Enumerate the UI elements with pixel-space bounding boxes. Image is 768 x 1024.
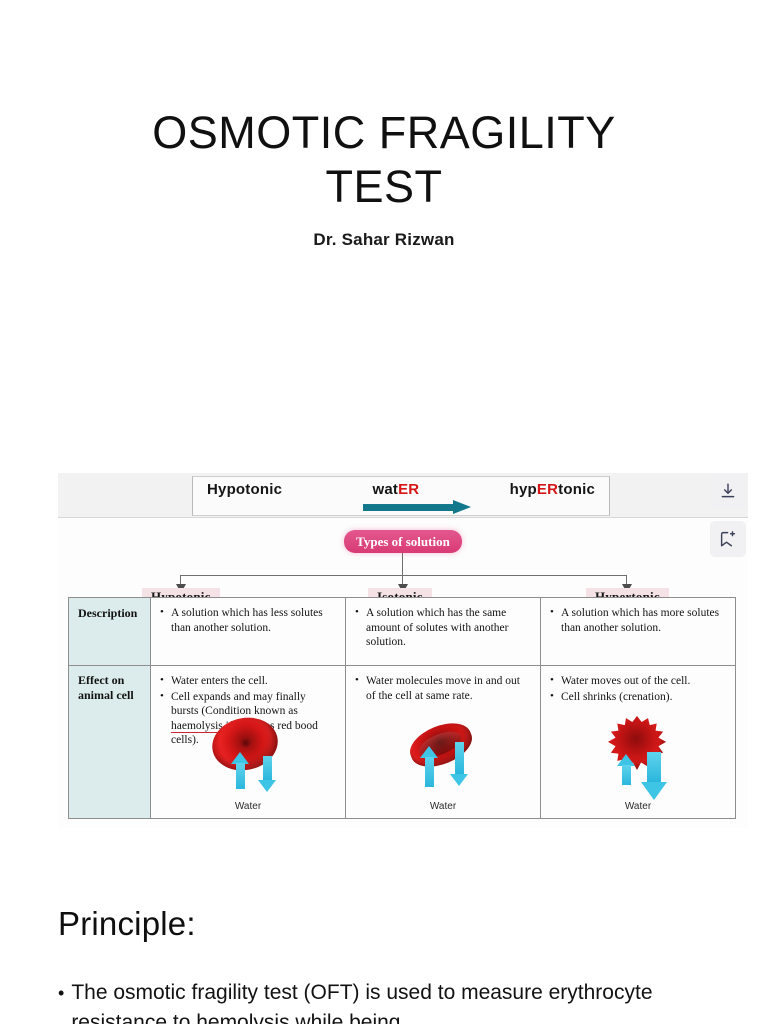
tonicity-banner-box: Hypotonic watER hypERtonic	[192, 476, 610, 516]
table-column-hypotonic: A solution which has less solutes than a…	[151, 598, 346, 818]
hypertonic-cell-illustration: Water	[541, 716, 735, 812]
figure-canvas: Hypotonic watER hypERtonic Types of solu…	[58, 473, 748, 828]
comparison-table: Description Effect on animal cell A solu…	[68, 597, 736, 819]
download-icon	[719, 482, 737, 500]
bullet-glyph: •	[58, 978, 64, 1008]
bookmark-add-button[interactable]	[710, 521, 746, 557]
list-item-text: The osmotic fragility test (OFT) is used…	[71, 978, 718, 1024]
list-item: Water molecules move in and out of the c…	[366, 674, 530, 703]
section-heading: Principle:	[58, 905, 196, 943]
row-label-effect-on-animal-cell: Effect on animal cell	[69, 665, 150, 703]
cell-hypotonic-description: A solution which has less solutes than a…	[151, 598, 345, 665]
banner-hypotonic-label: Hypotonic	[207, 481, 282, 498]
solution-types-diagram: Types of solution Hypotonic Isotonic Hyp…	[58, 517, 748, 828]
title-block: OSMOTIC FRAGILITY TEST Dr. Sahar Rizwan	[64, 106, 704, 250]
isotonic-cell-illustration: Water	[346, 716, 540, 812]
list-item: A solution which has less solutes than a…	[171, 606, 335, 635]
row-label-description: Description	[69, 598, 150, 621]
cell-isotonic-effect: Water molecules move in and out of the c…	[346, 666, 540, 818]
table-column-isotonic: A solution which has the same amount of …	[346, 598, 541, 818]
water-flow-arrow-icon	[363, 503, 473, 512]
slide-page: OSMOTIC FRAGILITY TEST Dr. Sahar Rizwan …	[0, 0, 768, 1024]
water-caption: Water	[346, 801, 540, 812]
download-button[interactable]	[710, 473, 746, 509]
list-item: A solution which has more solutes than a…	[561, 606, 725, 635]
banner-water-label: watER	[372, 481, 419, 498]
normal-red-blood-cell-icon	[404, 715, 478, 774]
cell-hypotonic-effect: Water enters the cell. Cell expands and …	[151, 666, 345, 818]
list-item: Water enters the cell.	[171, 674, 335, 689]
hypotonic-cell-illustration: Water	[151, 716, 345, 812]
bookmark-add-icon	[719, 530, 737, 548]
cell-isotonic-description: A solution which has the same amount of …	[346, 598, 540, 665]
list-item: A solution which has the same amount of …	[366, 606, 530, 650]
tonicity-banner: Hypotonic watER hypERtonic	[58, 473, 748, 517]
author-name: Dr. Sahar Rizwan	[64, 230, 704, 250]
cell-hypertonic-effect: Water moves out of the cell. Cell shrink…	[541, 666, 735, 818]
types-of-solution-node: Types of solution	[344, 530, 462, 553]
list-item: Water moves out of the cell.	[561, 674, 725, 689]
row-label-column: Description Effect on animal cell	[69, 598, 151, 818]
water-caption: Water	[151, 801, 345, 812]
osmosis-figure: Hypotonic watER hypERtonic Types of solu…	[58, 473, 748, 828]
banner-hypertonic-label: hypERtonic	[510, 481, 595, 498]
page-title: OSMOTIC FRAGILITY TEST	[64, 106, 704, 214]
table-column-hypertonic: A solution which has more solutes than a…	[541, 598, 735, 818]
figure-tools	[710, 473, 750, 569]
principle-bullet-list: • The osmotic fragility test (OFT) is us…	[58, 978, 718, 1024]
tonicity-banner-row: Hypotonic watER hypERtonic	[193, 481, 609, 498]
list-item: • The osmotic fragility test (OFT) is us…	[58, 978, 718, 1024]
water-caption: Water	[541, 801, 735, 812]
cell-hypertonic-description: A solution which has more solutes than a…	[541, 598, 735, 665]
list-item: Cell shrinks (crenation).	[561, 690, 725, 705]
